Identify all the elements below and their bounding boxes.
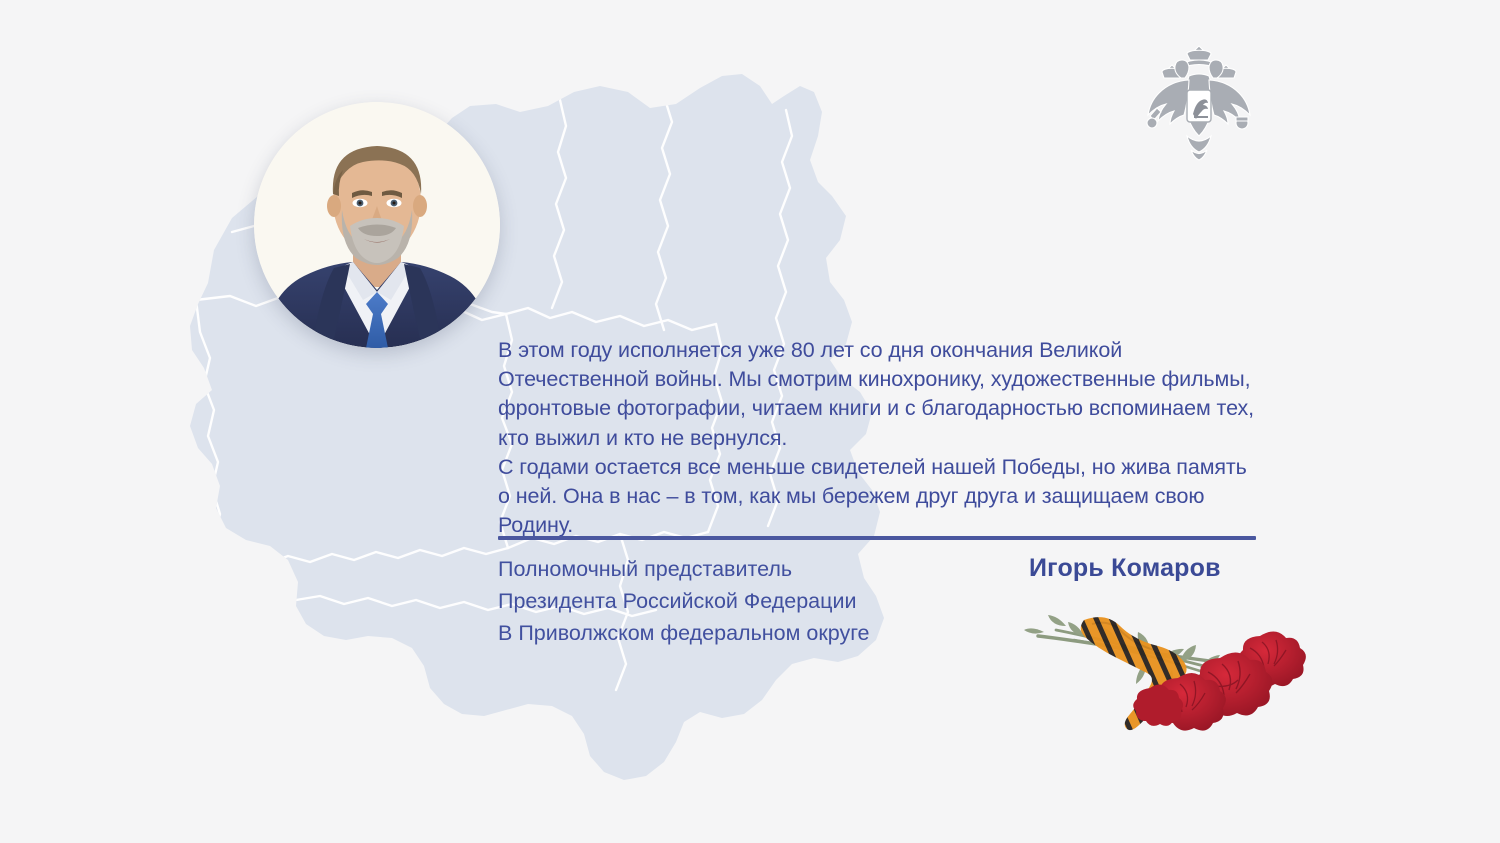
divider <box>498 536 1256 540</box>
avatar <box>254 102 500 348</box>
message-paragraph-2: С годами остается все меньше свидетелей … <box>498 453 1258 541</box>
signature-title: Полномочный представитель Президента Рос… <box>498 553 1018 649</box>
red-carnations-with-st-george-ribbon-icon <box>1022 596 1312 736</box>
signature-line-2: Президента Российской Федерации <box>498 585 1018 617</box>
signature-line-3: В Приволжском федеральном округе <box>498 617 1018 649</box>
message-paragraph-1: В этом году исполняется уже 80 лет со дн… <box>498 336 1258 453</box>
signatory-name: Игорь Комаров <box>1029 554 1221 583</box>
poster-canvas: В этом году исполняется уже 80 лет со дн… <box>0 0 1500 843</box>
coat-of-arms-of-russia-icon <box>1139 38 1259 163</box>
signature-line-1: Полномочный представитель <box>498 553 1018 585</box>
message-body: В этом году исполняется уже 80 лет со дн… <box>498 336 1258 540</box>
